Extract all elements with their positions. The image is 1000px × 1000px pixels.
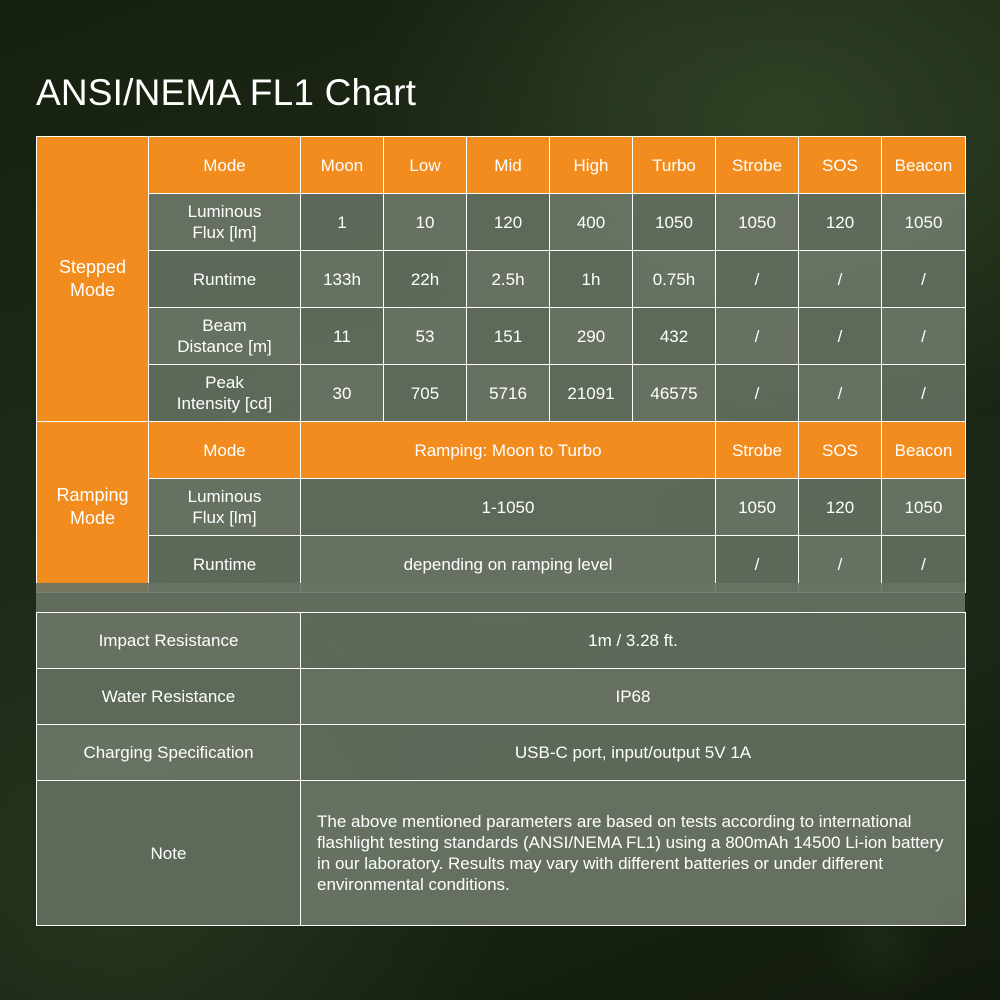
column-header-mode: Mode — [149, 137, 301, 194]
cell-runtime-low: 22h — [384, 251, 467, 308]
spec-label-charging-specification: Charging Specification — [37, 725, 301, 781]
ramping-column-header-beacon: Beacon — [882, 422, 966, 479]
cell-ramping-flux-strobe: 1050 — [716, 479, 799, 536]
stepped-mode-label-line2: Mode — [40, 279, 145, 302]
row-label-line2: Distance [m] — [152, 336, 297, 357]
spec-value-charging-specification: USB-C port, input/output 5V 1A — [301, 725, 966, 781]
cell-ramping-flux-sos: 120 — [799, 479, 882, 536]
cell-beam-beacon: / — [882, 308, 966, 365]
row-label-line1: Runtime — [152, 269, 297, 290]
cell-beam-mid: 151 — [467, 308, 550, 365]
ramping-column-header-mode: Mode — [149, 422, 301, 479]
cell-runtime-strobe: / — [716, 251, 799, 308]
cell-flux-beacon: 1050 — [882, 194, 966, 251]
stepped-mode-label-line1: Stepped — [40, 256, 145, 279]
cell-peak-mid: 5716 — [467, 365, 550, 422]
table-row: Charging Specification USB-C port, input… — [37, 725, 966, 781]
cell-peak-turbo: 46575 — [633, 365, 716, 422]
cell-beam-sos: / — [799, 308, 882, 365]
cell-peak-beacon: / — [882, 365, 966, 422]
table-row: Impact Resistance 1m / 3.28 ft. — [37, 613, 966, 669]
cell-runtime-high: 1h — [550, 251, 633, 308]
ramping-column-header-sos: SOS — [799, 422, 882, 479]
spec-label-impact-resistance: Impact Resistance — [37, 613, 301, 669]
table-row: Ramping Mode Mode Ramping: Moon to Turbo… — [37, 422, 966, 479]
cell-ramping-flux-beacon: 1050 — [882, 479, 966, 536]
ramping-mode-label-line1: Ramping — [40, 484, 145, 507]
row-label-line1: Beam — [152, 315, 297, 336]
table-header-row: Stepped Mode Mode Moon Low Mid High Turb… — [37, 137, 966, 194]
row-label-line1: Luminous — [152, 486, 297, 507]
ramping-column-header-strobe: Strobe — [716, 422, 799, 479]
column-header-high: High — [550, 137, 633, 194]
column-header-turbo: Turbo — [633, 137, 716, 194]
table-row: Beam Distance [m] 11 53 151 290 432 / / … — [37, 308, 966, 365]
column-header-sos: SOS — [799, 137, 882, 194]
row-label-line2: Flux [lm] — [152, 222, 297, 243]
ramping-range-header: Ramping: Moon to Turbo — [301, 422, 716, 479]
column-header-strobe: Strobe — [716, 137, 799, 194]
cell-peak-low: 705 — [384, 365, 467, 422]
column-header-beacon: Beacon — [882, 137, 966, 194]
row-label-line2: Intensity [cd] — [152, 393, 297, 414]
cell-ramping-flux-range: 1-1050 — [301, 479, 716, 536]
table-section-divider — [36, 583, 965, 612]
table-row: Peak Intensity [cd] 30 705 5716 21091 46… — [37, 365, 966, 422]
column-header-moon: Moon — [301, 137, 384, 194]
cell-flux-turbo: 1050 — [633, 194, 716, 251]
column-header-mid: Mid — [467, 137, 550, 194]
table-row: Luminous Flux [lm] 1-1050 1050 120 1050 — [37, 479, 966, 536]
table-row: Note The above mentioned parameters are … — [37, 781, 966, 926]
cell-peak-strobe: / — [716, 365, 799, 422]
spec-value-water-resistance: IP68 — [301, 669, 966, 725]
cell-beam-turbo: 432 — [633, 308, 716, 365]
spec-label-water-resistance: Water Resistance — [37, 669, 301, 725]
table-row: Runtime 133h 22h 2.5h 1h 0.75h / / / — [37, 251, 966, 308]
column-header-low: Low — [384, 137, 467, 194]
cell-runtime-moon: 133h — [301, 251, 384, 308]
row-label-luminous-flux: Luminous Flux [lm] — [149, 194, 301, 251]
table-row: Water Resistance IP68 — [37, 669, 966, 725]
cell-flux-high: 400 — [550, 194, 633, 251]
fl1-chart-page: ANSI/NEMA FL1 Chart Stepped Mode Mode Mo… — [0, 0, 1000, 1000]
cell-runtime-sos: / — [799, 251, 882, 308]
general-specification-table: Impact Resistance 1m / 3.28 ft. Water Re… — [36, 612, 966, 926]
cell-runtime-beacon: / — [882, 251, 966, 308]
table-row: Luminous Flux [lm] 1 10 120 400 1050 105… — [37, 194, 966, 251]
ramping-mode-label-line2: Mode — [40, 507, 145, 530]
cell-flux-strobe: 1050 — [716, 194, 799, 251]
cell-runtime-turbo: 0.75h — [633, 251, 716, 308]
row-label-line1: Peak — [152, 372, 297, 393]
cell-beam-high: 290 — [550, 308, 633, 365]
cell-peak-high: 21091 — [550, 365, 633, 422]
row-label-line1: Luminous — [152, 201, 297, 222]
mode-specification-table: Stepped Mode Mode Moon Low Mid High Turb… — [36, 136, 966, 593]
spec-value-impact-resistance: 1m / 3.28 ft. — [301, 613, 966, 669]
cell-peak-moon: 30 — [301, 365, 384, 422]
row-label-peak-intensity: Peak Intensity [cd] — [149, 365, 301, 422]
cell-flux-sos: 120 — [799, 194, 882, 251]
cell-runtime-mid: 2.5h — [467, 251, 550, 308]
row-label-line1: Runtime — [152, 554, 297, 575]
cell-peak-sos: / — [799, 365, 882, 422]
page-title: ANSI/NEMA FL1 Chart — [36, 71, 416, 115]
row-label-runtime: Runtime — [149, 251, 301, 308]
spec-label-note: Note — [37, 781, 301, 926]
spec-value-note: The above mentioned parameters are based… — [301, 781, 966, 926]
section-label-stepped-mode: Stepped Mode — [37, 137, 149, 422]
cell-flux-mid: 120 — [467, 194, 550, 251]
ramping-row-label-luminous-flux: Luminous Flux [lm] — [149, 479, 301, 536]
cell-flux-moon: 1 — [301, 194, 384, 251]
row-label-beam-distance: Beam Distance [m] — [149, 308, 301, 365]
section-label-ramping-mode: Ramping Mode — [37, 422, 149, 593]
row-label-line2: Flux [lm] — [152, 507, 297, 528]
cell-beam-moon: 11 — [301, 308, 384, 365]
cell-flux-low: 10 — [384, 194, 467, 251]
cell-beam-low: 53 — [384, 308, 467, 365]
cell-beam-strobe: / — [716, 308, 799, 365]
